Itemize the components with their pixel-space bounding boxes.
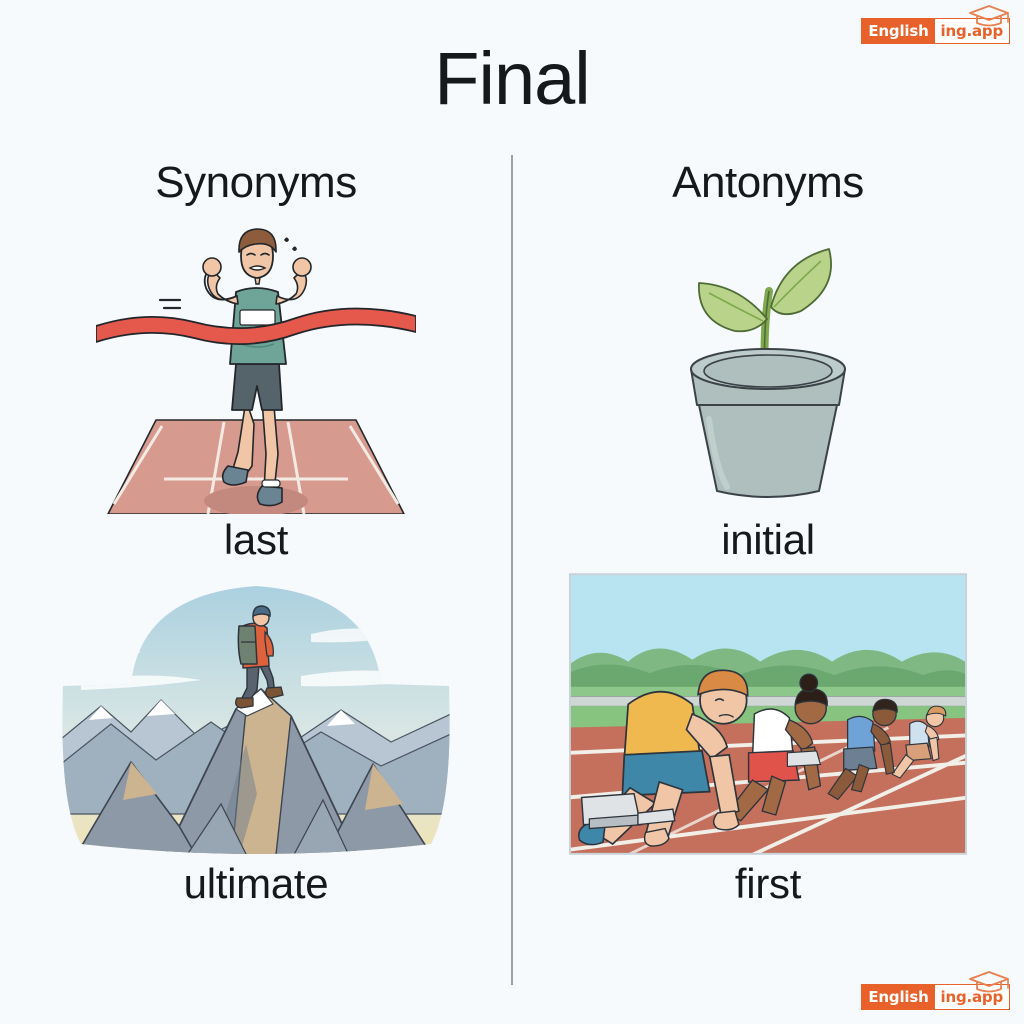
column-divider (511, 155, 513, 985)
entry-last: last (56, 214, 456, 564)
brand-logo-bottom[interactable]: English ing.app (861, 984, 1010, 1010)
synonyms-heading: Synonyms (155, 158, 356, 208)
entry-first: first (568, 564, 968, 908)
brand-logo-text-primary: English (862, 985, 934, 1009)
seedling-sprout-in-pot-illustration (568, 214, 968, 514)
antonyms-column: Antonyms (512, 150, 1024, 1010)
entry-initial: initial (568, 214, 968, 564)
runner-crossing-finish-line-illustration (56, 214, 456, 514)
sprinters-at-starting-blocks-illustration (568, 564, 968, 864)
entry-ultimate: ultimate (56, 564, 456, 908)
brand-logo-text-secondary: ing.app (935, 19, 1009, 43)
word-label-first: first (735, 860, 801, 908)
word-label-last: last (224, 516, 288, 564)
page-title: Final (0, 36, 1024, 121)
antonyms-heading: Antonyms (672, 158, 864, 208)
synonyms-column: Synonyms (0, 150, 512, 1010)
brand-logo-text-primary: English (862, 19, 934, 43)
hiker-on-mountain-summit-illustration (56, 564, 456, 864)
word-label-initial: initial (721, 516, 815, 564)
brand-logo-text-secondary: ing.app (935, 985, 1009, 1009)
word-label-ultimate: ultimate (184, 860, 329, 908)
brand-logo-top[interactable]: English ing.app (861, 18, 1010, 44)
